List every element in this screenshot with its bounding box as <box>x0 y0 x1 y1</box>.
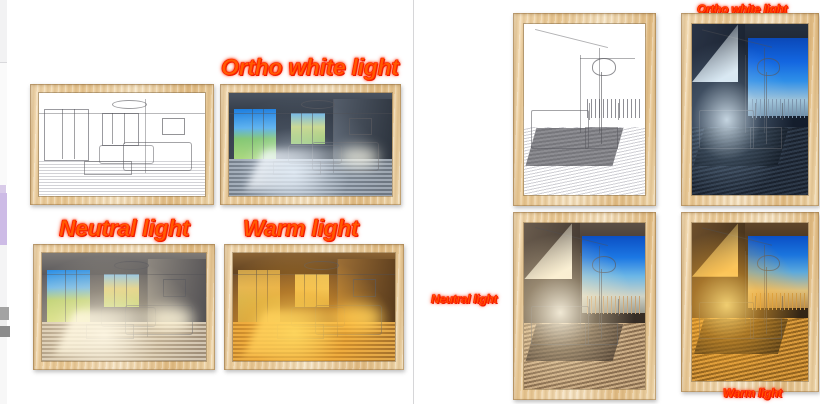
artwork-living-room-ortho-white <box>229 93 392 196</box>
caption-neutral-left: Neutral light <box>59 215 189 242</box>
panel-divider <box>413 0 414 404</box>
left-edge-accent-sliver <box>0 193 7 245</box>
screenshot-root: Ortho white light Neutral light Warm <box>0 0 820 404</box>
rp-frame-4-warm[interactable] <box>681 212 819 392</box>
artwork-terrace-ortho-white <box>692 24 808 195</box>
rp-frame-2-ortho-white[interactable] <box>681 13 819 206</box>
caption-warm-right: Warm light <box>723 386 782 400</box>
caption-neutral-right: Neutral light <box>431 292 497 306</box>
artwork-terrace-sketch <box>524 24 645 195</box>
left-edge-chrome-sliver <box>0 245 7 307</box>
lp-frame-3-neutral[interactable] <box>33 244 215 370</box>
rp-frame-3-neutral[interactable] <box>513 212 656 400</box>
caption-warm-left: Warm light <box>243 215 358 242</box>
left-edge-accent-sliver <box>0 185 6 193</box>
lp-frame-1-sketch[interactable] <box>30 84 214 205</box>
lp-frame-4-warm[interactable] <box>224 244 404 370</box>
left-edge-thumbnail-sliver <box>0 326 10 337</box>
rp-frame-1-sketch[interactable] <box>513 13 656 206</box>
artwork-living-room-warm <box>233 253 395 361</box>
left-edge-chrome-sliver <box>0 63 7 185</box>
artwork-living-room-sketch <box>39 93 205 196</box>
left-edge-thumbnail-sliver <box>0 307 9 320</box>
caption-ortho-white-left: Ortho white light <box>221 54 399 81</box>
left-edge-chrome-sliver <box>0 0 7 62</box>
artwork-terrace-warm <box>692 223 808 381</box>
artwork-living-room-neutral <box>42 253 206 361</box>
left-edge-chrome-sliver <box>0 337 7 404</box>
artwork-terrace-neutral <box>524 223 645 389</box>
lp-frame-2-ortho-white[interactable] <box>220 84 401 205</box>
